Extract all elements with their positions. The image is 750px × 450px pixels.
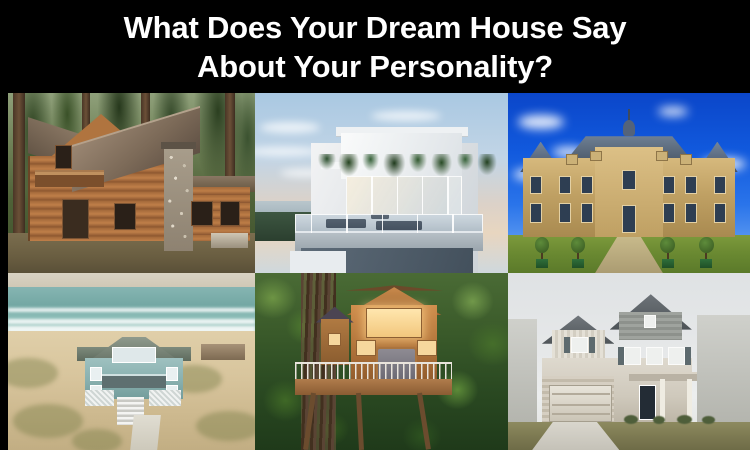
cloud: [518, 115, 564, 129]
house-tile-modern-penthouse[interactable]: [255, 93, 508, 273]
chimney-cap: [161, 142, 196, 149]
window-mullion: [422, 176, 424, 219]
window-mullion: [397, 176, 399, 219]
window-mullion: [447, 176, 449, 219]
facade-window: [581, 176, 593, 194]
central-dome: [623, 120, 635, 136]
glass-curtain-wall: [346, 176, 462, 219]
lattice-skirt-left: [85, 390, 115, 406]
garage-panel-line: [552, 393, 610, 395]
treehouse-photo: [255, 273, 508, 450]
rail-post: [382, 214, 384, 234]
lattice-skirt-right: [149, 390, 181, 406]
facade-window: [581, 203, 593, 223]
suburban-home-photo: [508, 273, 750, 450]
planter-box: [662, 259, 674, 268]
facade-window: [663, 203, 675, 223]
attic-window: [644, 315, 656, 327]
cabin-stone-steps: [211, 233, 248, 247]
cloud: [260, 122, 320, 133]
facade-window: [714, 203, 726, 223]
front-door[interactable]: [639, 385, 656, 420]
covered-porch: [102, 374, 166, 388]
neighbor-house-left: [508, 319, 537, 422]
lower-white-wall: [290, 251, 346, 273]
page-title-line-1: What Does Your Dream House Say: [124, 8, 627, 47]
treehouse-window: [356, 340, 376, 356]
house-tile-beach-house[interactable]: [8, 273, 255, 450]
house-window: [90, 367, 102, 381]
turret-window: [328, 333, 341, 345]
window-shutter: [685, 347, 691, 365]
glass-balustrade: [295, 214, 482, 234]
treehouse-window: [417, 340, 437, 356]
beach-house-photo: [8, 273, 255, 450]
garage-panel-line: [552, 404, 610, 406]
roof-dormer: [566, 154, 578, 165]
page-title-line-2: About Your Personality?: [197, 47, 553, 86]
roof-dormer: [656, 151, 668, 162]
planter-box: [572, 259, 584, 268]
pine-trunk: [13, 93, 25, 241]
stone-chimney: [164, 147, 194, 251]
neighbor-house-right: [697, 315, 750, 421]
facade-window: [559, 203, 571, 223]
house-tile-french-chateau[interactable]: [508, 93, 750, 273]
house-tile-treehouse[interactable]: [255, 273, 508, 450]
cabin-wing-window: [220, 201, 240, 226]
cabin-window: [114, 203, 136, 230]
cabin-upper-window: [55, 145, 72, 168]
lit-gable-window: [366, 308, 422, 338]
house-tile-log-cabin[interactable]: [8, 93, 255, 273]
facade-window: [622, 170, 637, 190]
shrub: [624, 415, 638, 424]
roof-dormer: [590, 151, 602, 162]
topiary-tree: [699, 237, 714, 253]
window-shutter: [564, 337, 570, 353]
planter-box: [536, 259, 548, 268]
log-cabin-photo: [8, 93, 255, 273]
house-image-grid: [8, 93, 750, 450]
deck-railing: [295, 362, 452, 381]
facade-window: [559, 176, 571, 194]
facade-window: [530, 203, 542, 223]
window-mullion: [371, 176, 373, 219]
beach-boardwalk: [201, 344, 245, 360]
rail-post: [346, 214, 348, 234]
hanging-plants: [316, 154, 498, 177]
upper-window: [646, 347, 663, 365]
porch-column: [660, 379, 665, 421]
shrub: [677, 415, 692, 424]
french-chateau-photo: [508, 93, 750, 273]
rail-post: [311, 214, 313, 234]
facade-window: [685, 176, 697, 194]
facade-window: [685, 203, 697, 223]
dune-grass: [196, 411, 255, 441]
wave-line: [8, 319, 255, 324]
upper-window: [624, 347, 641, 365]
wave-line: [8, 308, 255, 312]
roof-dormer: [680, 154, 692, 165]
planter-box: [700, 259, 712, 268]
dune-grass: [72, 429, 122, 450]
topiary-tree: [660, 237, 675, 253]
facade-window: [714, 176, 726, 194]
window-shutter: [589, 337, 595, 353]
facade-window: [663, 176, 675, 194]
house-tile-suburban-home[interactable]: [508, 273, 750, 450]
quiz-thumbnail: What Does Your Dream House Say About You…: [0, 0, 750, 450]
gable-window: [112, 347, 156, 363]
title-banner: What Does Your Dream House Say About You…: [0, 0, 750, 93]
cloud: [371, 111, 441, 121]
rail-post: [417, 214, 419, 234]
cabin-door: [62, 199, 89, 239]
rail-post: [452, 214, 454, 234]
cabin-wing-window: [191, 201, 213, 226]
wrap-around-deck: [295, 379, 452, 395]
upper-window: [668, 347, 685, 365]
house-window: [166, 367, 178, 381]
window-shutter: [618, 347, 624, 365]
entrance-door: [622, 205, 637, 234]
facade-window: [530, 176, 542, 194]
dune-grass: [13, 404, 83, 438]
cabin-balcony: [35, 170, 104, 186]
modern-penthouse-photo: [255, 93, 508, 273]
sand-walkway: [130, 415, 161, 450]
garage-panel-line: [552, 413, 610, 415]
upper-window: [571, 337, 588, 353]
